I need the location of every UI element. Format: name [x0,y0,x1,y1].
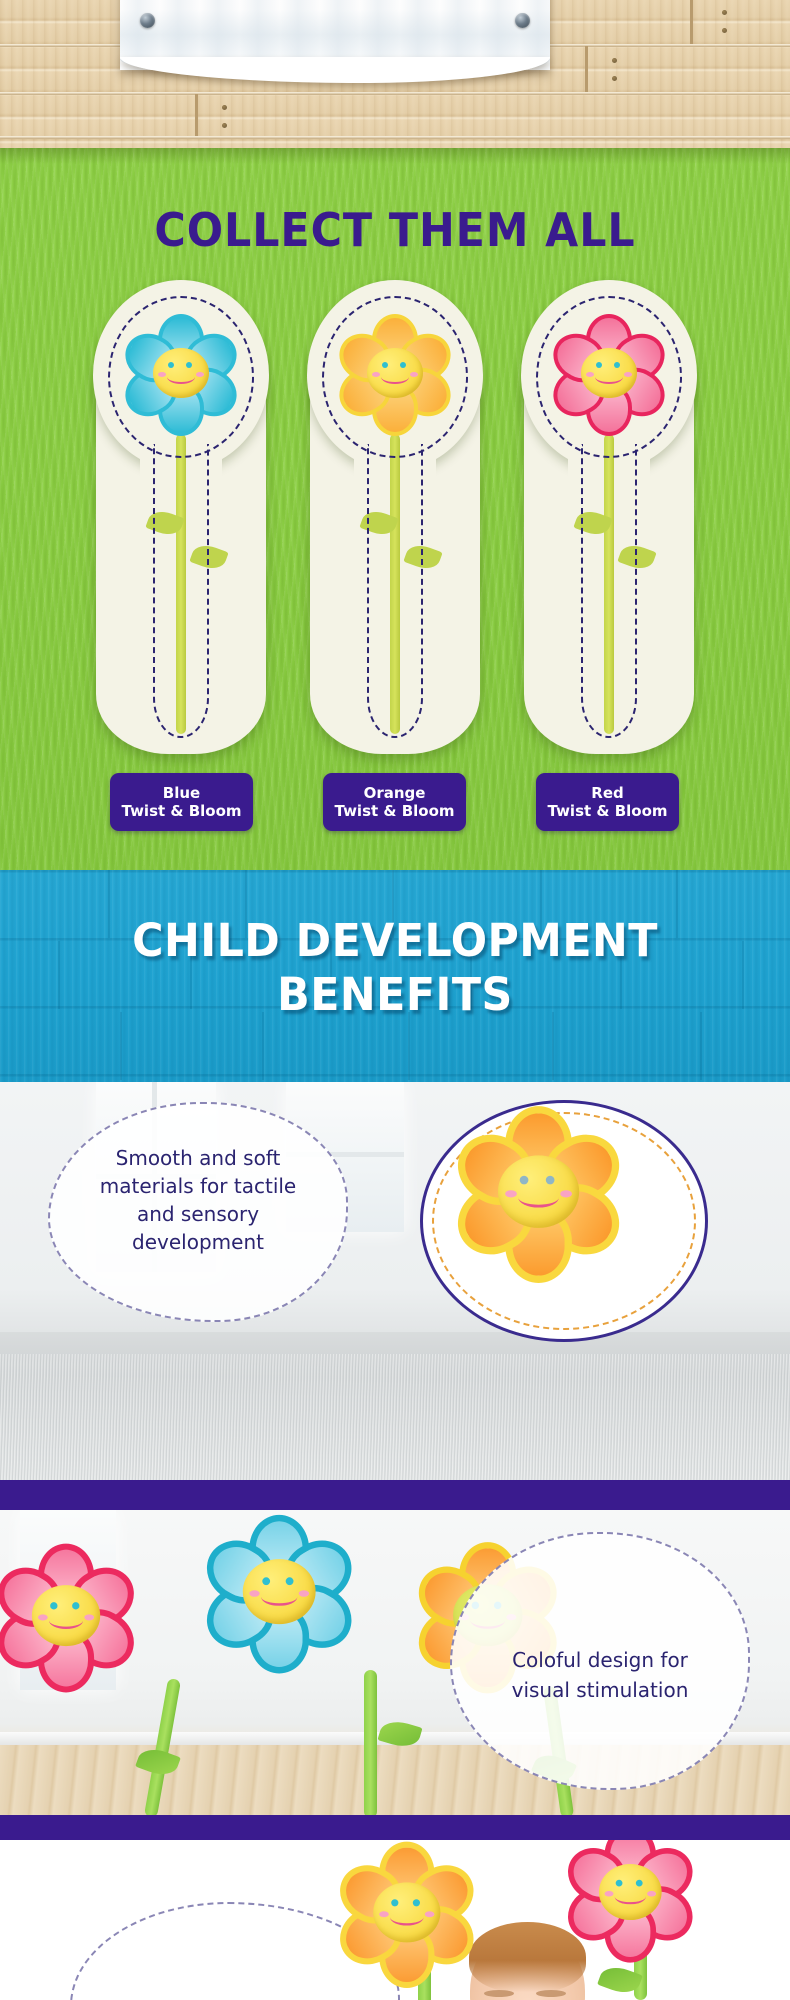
cheek-blush [84,1614,94,1620]
smile-icon [615,1889,646,1905]
section-top-shadow [0,148,790,164]
plank-divider [0,136,790,139]
benefit-one-line2: materials for tactile [50,1172,346,1200]
variant-color-name: Orange [323,784,466,802]
bottom-photo-section [0,1840,790,2000]
section-divider-one [0,1480,790,1510]
cheek-blush [38,1614,48,1620]
stitch-dashes-stem [367,444,423,738]
benefit-one-line4: development [50,1228,346,1256]
smile-icon [518,1187,559,1207]
carpet-texture [0,1354,790,1480]
plank-seam [585,46,588,92]
screw-icon [222,123,227,128]
eye-icon [391,1899,398,1906]
cheek-blush [505,1190,517,1197]
cheek-blush [410,372,418,377]
benefit-two-line1: Coloful design for [452,1646,748,1674]
screw-icon [612,58,617,63]
variant-label-red[interactable]: Red Twist & Bloom [536,773,679,831]
flower-cutout-red [524,284,694,754]
eye-icon [186,362,192,368]
smile-icon [381,370,409,384]
cheek-blush [560,1190,572,1197]
banner-title-line2: BENEFITS [20,968,771,1021]
eye-icon [520,1176,529,1185]
child-development-banner: CHILD DEVELOPMENT BENEFITS [0,870,790,1082]
eye-icon [616,1880,623,1887]
plush-flower-pink [0,1546,171,1723]
flower-face [498,1155,579,1228]
benefit-one-line3: and sensory [50,1200,346,1228]
baby-eyebrow [536,1990,566,1997]
plank-divider [0,92,790,95]
variant-color-name: Blue [110,784,253,802]
flower-cutout-orange [310,284,480,754]
eye-icon [286,1577,294,1585]
flower-face [599,1864,662,1920]
cheek-blush [249,1590,259,1597]
plush-flower-orange [336,1844,504,2000]
benefit-two-photo-section: Coloful design for visual stimulation [0,1510,790,1815]
variant-label-orange[interactable]: Orange Twist & Bloom [323,773,466,831]
stitch-dashes-stem [153,444,209,738]
cheek-blush [586,372,594,377]
eye-icon [72,1602,79,1609]
eye-icon [168,362,174,368]
eye-icon [636,1880,643,1887]
screw-icon [722,10,727,15]
variant-label-blue[interactable]: Blue Twist & Bloom [110,773,253,831]
plush-flower-red [550,316,668,434]
cheek-blush [379,1911,389,1917]
stitch-dashes-stem [581,444,637,738]
plush-flower-blue [122,316,240,434]
variant-color-name: Red [536,784,679,802]
eye-icon [382,362,388,368]
plush-flower-orange-closeup [453,1109,685,1341]
wood-plank-header: Hangtag – Paper / Iron PACKAGING MATERIA… [0,0,790,148]
grommet-icon [140,13,155,28]
cheek-blush [196,372,204,377]
flower-face [373,1882,440,1942]
plush-flower-pink [564,1840,710,1974]
benefit-two-callout: Coloful design for visual stimulation [450,1532,750,1790]
benefit-one-callout: Smooth and soft materials for tactile an… [48,1102,348,1322]
eye-icon [413,1899,420,1906]
eye-icon [614,362,620,368]
flower-face [32,1585,100,1646]
smile-icon [261,1588,297,1606]
cheek-blush [425,1911,435,1917]
flower-face [243,1559,316,1624]
flower-face [153,348,209,398]
product-infographic-page: Hangtag – Paper / Iron PACKAGING MATERIA… [0,0,790,2000]
plush-flower-blue [203,1518,398,1713]
eye-icon [400,362,406,368]
eye-icon [50,1602,57,1609]
cheek-blush [372,372,380,377]
benefit-one-product-photo [420,1100,708,1342]
banner-title-line1: CHILD DEVELOPMENT [20,914,771,967]
variant-product-line: Twist & Bloom [110,802,253,820]
screw-icon [612,76,617,81]
cheek-blush [158,372,166,377]
smile-icon [167,370,195,384]
benefit-one-photo-section: Smooth and soft materials for tactile an… [0,1082,790,1480]
cheek-blush [647,1891,656,1897]
screw-icon [222,105,227,110]
cheek-blush [624,372,632,377]
variant-product-line: Twist & Bloom [323,802,466,820]
smile-icon [49,1612,83,1629]
collect-them-all-title: COLLECT THEM ALL [28,203,763,257]
flower-cutout-blue [96,284,266,754]
eye-icon [596,362,602,368]
cheek-blush [299,1590,309,1597]
smile-icon [390,1909,424,1926]
variant-product-line: Twist & Bloom [536,802,679,820]
plank-seam [690,0,693,44]
collect-them-all-section: COLLECT THEM ALL [0,148,790,870]
benefit-one-line1: Smooth and soft [50,1144,346,1172]
plush-flower-orange [336,316,454,434]
flower-face [367,348,423,398]
eye-icon [262,1577,270,1585]
flower-face [581,348,637,398]
cheek-blush [605,1891,614,1897]
smile-icon [595,370,623,384]
plank-seam [195,94,198,136]
grommet-icon [515,13,530,28]
packaging-info-sign: Hangtag – Paper / Iron PACKAGING MATERIA… [120,0,550,70]
eye-icon [546,1176,555,1185]
benefit-two-line2: visual stimulation [452,1676,748,1704]
screw-icon [722,28,727,33]
